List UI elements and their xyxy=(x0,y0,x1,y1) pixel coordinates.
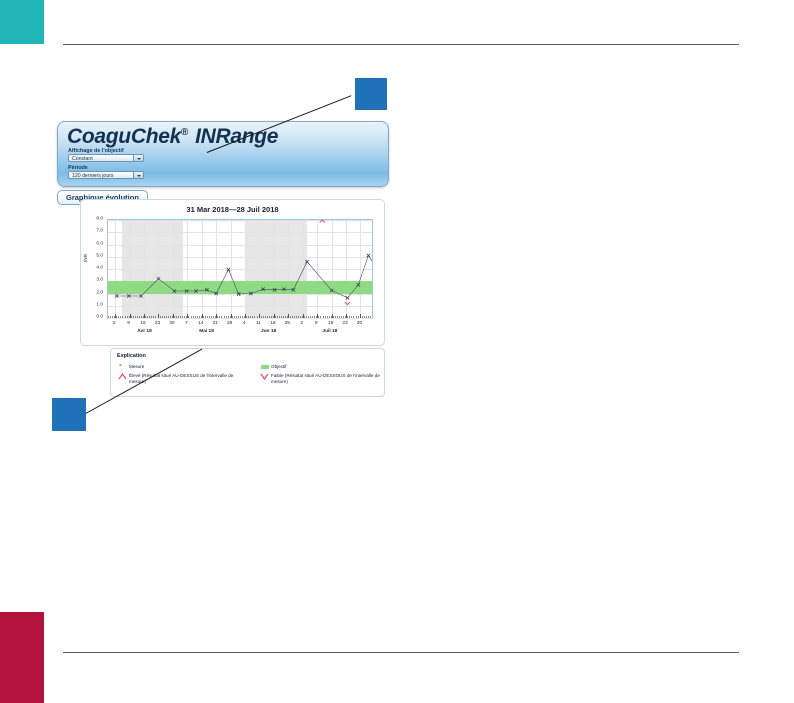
chart-x-minor-tick xyxy=(300,316,301,318)
chart-x-minor-tick xyxy=(131,316,132,318)
chart-data-point xyxy=(367,254,370,257)
chart-x-tick-label: 16 xyxy=(140,321,145,326)
chart-x-minor-tick xyxy=(257,316,258,318)
chart-x-minor-tick xyxy=(349,316,350,318)
chart-x-minor-tick xyxy=(333,316,334,318)
chart-x-minor-tick xyxy=(275,316,276,318)
chart-x-major-tick xyxy=(288,314,289,318)
chart-y-tick-label: 4.0 xyxy=(89,266,103,271)
chart-x-tick-label: 14 xyxy=(198,321,203,326)
chart-x-minor-tick xyxy=(174,316,175,318)
chart-gridline-h xyxy=(108,318,372,319)
chart-x-minor-tick xyxy=(292,316,293,318)
chart-x-major-tick xyxy=(317,314,318,318)
chart-x-minor-tick xyxy=(281,316,282,318)
chart-x-minor-tick xyxy=(108,316,109,318)
legend-target-label: Objectif xyxy=(271,364,287,370)
chart-x-minor-tick xyxy=(370,316,371,318)
objective-select-value: Constant xyxy=(72,156,93,162)
chart-x-minor-tick xyxy=(368,316,369,318)
chart-x-minor-tick xyxy=(285,316,286,318)
chart-y-tick-label: 3.0 xyxy=(89,278,103,283)
chart-x-minor-tick xyxy=(118,316,119,318)
chart-out-of-range-marker xyxy=(345,302,350,304)
chart-series-layer xyxy=(108,220,372,318)
chart-month-label: Juil 18 xyxy=(322,329,337,334)
chart-x-minor-tick xyxy=(351,316,352,318)
legend-low-label: Faible (Résultat situé AU-DESSOUS de l'i… xyxy=(271,373,389,384)
chart-x-minor-tick xyxy=(139,316,140,318)
chart-x-minor-tick xyxy=(290,316,291,318)
chart-x-minor-tick xyxy=(265,316,266,318)
chart-x-minor-tick xyxy=(242,316,243,318)
chart-x-minor-tick xyxy=(327,316,328,318)
chart-x-tick-label: 30 xyxy=(357,321,362,326)
chart-y-tick-label: 5.0 xyxy=(89,253,103,258)
chart-x-minor-tick xyxy=(135,316,136,318)
chart-x-minor-tick xyxy=(269,316,270,318)
chart-x-minor-tick xyxy=(248,316,249,318)
chart-month-label: Mai 18 xyxy=(199,329,214,334)
footer-rule xyxy=(63,652,739,653)
chart-x-minor-tick xyxy=(246,316,247,318)
chart-x-minor-tick xyxy=(337,316,338,318)
measure-marker-icon: × xyxy=(119,363,122,369)
chart-x-minor-tick xyxy=(155,316,156,318)
target-band-swatch xyxy=(261,365,269,369)
chart-x-minor-tick xyxy=(116,316,117,318)
registered-mark: ® xyxy=(181,127,188,138)
chart-x-minor-tick xyxy=(205,316,206,318)
chart-x-minor-tick xyxy=(147,316,148,318)
legend-measure-label: Mesure xyxy=(129,364,144,370)
chart-x-minor-tick xyxy=(240,316,241,318)
chart-data-point xyxy=(227,268,230,271)
chart-x-minor-tick xyxy=(318,316,319,318)
chart-x-minor-tick xyxy=(329,316,330,318)
chart-x-minor-tick xyxy=(325,316,326,318)
chart-x-minor-tick xyxy=(188,316,189,318)
chart-y-tick-label: 8.0 xyxy=(89,217,103,222)
chart-x-minor-tick xyxy=(306,316,307,318)
high-marker-icon xyxy=(118,373,127,380)
chart-x-minor-tick xyxy=(182,316,183,318)
chart-x-minor-tick xyxy=(217,316,218,318)
chart-x-major-tick xyxy=(187,314,188,318)
chart-x-minor-tick xyxy=(236,316,237,318)
chart-x-minor-tick xyxy=(145,316,146,318)
callout-box-top xyxy=(355,78,387,110)
chart-x-major-tick xyxy=(332,314,333,318)
chart-y-tick-label: 2.0 xyxy=(89,290,103,295)
chart-y-tick-label: 6.0 xyxy=(89,241,103,246)
chart-x-minor-tick xyxy=(125,316,126,318)
chart-x-minor-tick xyxy=(271,316,272,318)
chart-x-minor-tick xyxy=(366,316,367,318)
chart-x-minor-tick xyxy=(112,316,113,318)
faint-header-mark: •• xyxy=(66,2,94,18)
chart-x-major-tick xyxy=(360,314,361,318)
chart-x-minor-tick xyxy=(323,316,324,318)
chart-data-point xyxy=(330,289,333,292)
chart-x-minor-tick xyxy=(238,316,239,318)
chart-data-point xyxy=(214,292,217,295)
chart-x-minor-tick xyxy=(296,316,297,318)
legend-title: Explication xyxy=(117,353,146,359)
chart-x-tick-label: 2 xyxy=(300,321,303,326)
chart-x-minor-tick xyxy=(224,316,225,318)
chart-x-major-tick xyxy=(202,314,203,318)
chart-x-tick-label: 4 xyxy=(243,321,246,326)
chart-x-minor-tick xyxy=(207,316,208,318)
chart-x-minor-tick xyxy=(199,316,200,318)
chart-x-minor-tick xyxy=(180,316,181,318)
chart-x-minor-tick xyxy=(151,316,152,318)
chevron-down-icon[interactable] xyxy=(133,155,143,161)
chart-x-minor-tick xyxy=(261,316,262,318)
chart-month-label: Avr 18 xyxy=(137,329,152,334)
chart-x-minor-tick xyxy=(362,316,363,318)
chart-title: 31 Mar 2018—28 Juil 2018 xyxy=(81,205,384,214)
chart-y-axis-label: INR xyxy=(83,254,88,262)
chart-x-minor-tick xyxy=(308,316,309,318)
chart-x-minor-tick xyxy=(341,316,342,318)
period-select[interactable]: 120 derniers jours xyxy=(68,171,144,179)
chart-x-tick-label: 30 xyxy=(169,321,174,326)
chart-x-tick-label: 2 xyxy=(113,321,116,326)
chart-x-minor-tick xyxy=(228,316,229,318)
chart-x-tick-label: 9 xyxy=(127,321,130,326)
chart-x-major-tick xyxy=(346,314,347,318)
chart-x-minor-tick xyxy=(232,316,233,318)
chart-x-major-tick xyxy=(231,314,232,318)
chart-x-minor-tick xyxy=(294,316,295,318)
chart-x-minor-tick xyxy=(347,316,348,318)
report-header-panel: CoaguChek®INRange Affichage de l'objecti… xyxy=(57,121,389,187)
chart-x-minor-tick xyxy=(191,316,192,318)
chart-x-major-tick xyxy=(130,314,131,318)
chart-out-of-range-marker xyxy=(320,220,325,222)
chart-x-minor-tick xyxy=(335,316,336,318)
chart-x-tick-label: 23 xyxy=(342,321,347,326)
chart-x-minor-tick xyxy=(254,316,255,318)
chart-data-point xyxy=(305,260,308,263)
chart-x-minor-tick xyxy=(164,316,165,318)
callout-box-bottom xyxy=(52,398,86,431)
chart-card: 31 Mar 2018—28 Juil 2018 INR 0.01.02.03.… xyxy=(80,199,385,346)
chevron-down-icon[interactable] xyxy=(133,172,143,178)
chart-x-minor-tick xyxy=(213,316,214,318)
chart-x-minor-tick xyxy=(234,316,235,318)
chart-x-minor-tick xyxy=(170,316,171,318)
chart-x-major-tick xyxy=(303,314,304,318)
page-edge-block-top xyxy=(0,0,44,44)
chart-x-minor-tick xyxy=(279,316,280,318)
chart-x-minor-tick xyxy=(343,316,344,318)
page-edge-block-bottom xyxy=(0,612,44,703)
chart-x-minor-tick xyxy=(184,316,185,318)
chart-y-tick-label: 0.0 xyxy=(89,315,103,320)
chart-x-minor-tick xyxy=(283,316,284,318)
chart-data-point xyxy=(357,283,360,286)
chart-x-minor-tick xyxy=(226,316,227,318)
chart-x-major-tick xyxy=(245,314,246,318)
chart-x-minor-tick xyxy=(176,316,177,318)
chart-x-minor-tick xyxy=(166,316,167,318)
chart-x-minor-tick xyxy=(141,316,142,318)
chart-x-minor-tick xyxy=(149,316,150,318)
chart-x-minor-tick xyxy=(110,316,111,318)
chart-x-minor-tick xyxy=(122,316,123,318)
chart-x-major-tick xyxy=(144,314,145,318)
chart-x-major-tick xyxy=(259,314,260,318)
chart-x-major-tick xyxy=(216,314,217,318)
low-marker-icon xyxy=(260,373,269,380)
chart-x-minor-tick xyxy=(153,316,154,318)
chart-x-minor-tick xyxy=(358,316,359,318)
chart-month-label: Jun 18 xyxy=(261,329,276,334)
chart-x-minor-tick xyxy=(312,316,313,318)
period-select-value: 120 derniers jours xyxy=(72,173,114,179)
chart-x-minor-tick xyxy=(168,316,169,318)
chart-x-minor-tick xyxy=(209,316,210,318)
chart-series-line xyxy=(117,256,372,298)
chart-x-minor-tick xyxy=(162,316,163,318)
brand-name: CoaguChek xyxy=(67,125,181,148)
chart-x-tick-label: 7 xyxy=(185,321,188,326)
chart-x-minor-tick xyxy=(197,316,198,318)
chart-y-tick-label: 1.0 xyxy=(89,302,103,307)
chart-x-tick-label: 11 xyxy=(256,321,261,326)
objective-select[interactable]: Constant xyxy=(68,154,144,162)
chart-x-tick-label: 21 xyxy=(213,321,218,326)
chart-x-minor-tick xyxy=(353,316,354,318)
chart-x-minor-tick xyxy=(160,316,161,318)
chart-x-minor-tick xyxy=(252,316,253,318)
chart-x-minor-tick xyxy=(127,316,128,318)
chart-x-minor-tick xyxy=(221,316,222,318)
chart-x-minor-tick xyxy=(219,316,220,318)
chart-x-minor-tick xyxy=(320,316,321,318)
legend-card: Explication × Mesure Élevé (Résultat sit… xyxy=(110,348,385,397)
chart-x-minor-tick xyxy=(364,316,365,318)
chart-x-minor-tick xyxy=(339,316,340,318)
chart-x-major-tick xyxy=(115,314,116,318)
chart-x-minor-tick xyxy=(267,316,268,318)
chart-x-minor-tick xyxy=(263,316,264,318)
chart-x-minor-tick xyxy=(193,316,194,318)
chart-x-tick-label: 28 xyxy=(227,321,232,326)
chart-y-tick-label: 7.0 xyxy=(89,229,103,234)
chart-x-major-tick xyxy=(274,314,275,318)
chart-x-minor-tick xyxy=(120,316,121,318)
chart-x-minor-tick xyxy=(298,316,299,318)
chart-x-tick-label: 18 xyxy=(270,321,275,326)
chart-x-tick-label: 25 xyxy=(285,321,290,326)
chart-x-minor-tick xyxy=(250,316,251,318)
chart-data-point xyxy=(346,296,349,299)
header-rule xyxy=(63,44,739,45)
chart-x-minor-tick xyxy=(137,316,138,318)
chart-plot-area xyxy=(107,219,373,319)
chart-x-major-tick xyxy=(158,314,159,318)
chart-x-tick-label: 16 xyxy=(328,321,333,326)
chart-x-minor-tick xyxy=(277,316,278,318)
chart-x-minor-tick xyxy=(195,316,196,318)
chart-x-minor-tick xyxy=(304,316,305,318)
chart-x-minor-tick xyxy=(314,316,315,318)
chart-x-tick-label: 9 xyxy=(315,321,318,326)
chart-x-minor-tick xyxy=(203,316,204,318)
chart-x-minor-tick xyxy=(356,316,357,318)
chart-x-minor-tick xyxy=(133,316,134,318)
chart-data-point xyxy=(157,277,160,280)
chart-x-minor-tick xyxy=(211,316,212,318)
chart-x-minor-tick xyxy=(178,316,179,318)
chart-x-minor-tick xyxy=(310,316,311,318)
chart-x-tick-label: 23 xyxy=(155,321,160,326)
chart-x-major-tick xyxy=(173,314,174,318)
